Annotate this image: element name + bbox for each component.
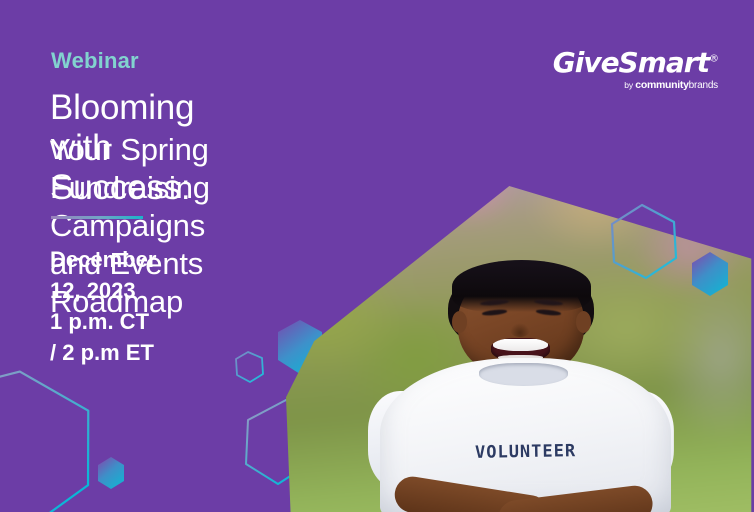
logo-tagline-by: by	[624, 80, 635, 90]
ear-right	[576, 311, 591, 332]
tshirt-volunteer-text: VOLUNTEER	[441, 440, 611, 463]
gradient-divider	[51, 216, 143, 219]
hero-photo-mask: VOLUNTEER	[286, 186, 754, 512]
registered-trademark-icon: ®	[709, 54, 718, 65]
logo-tagline: by communitybrands	[553, 80, 718, 91]
givesmart-logo: GiveSmart® by communitybrands	[553, 49, 718, 91]
teeth-upper	[493, 339, 547, 351]
hexagon-outline-small-mid	[236, 352, 263, 382]
hair-top	[452, 260, 591, 313]
event-datetime: December 12, 2023 1 p.m. CT / 2 p.m ET	[50, 244, 156, 368]
eyebrow-label: Webinar	[51, 48, 139, 74]
logo-tagline-brands: brands	[689, 80, 718, 91]
tshirt-collar	[479, 363, 568, 386]
webinar-promo-banner: VOLUNTEER Webinar Blooming with Success:…	[0, 0, 754, 512]
logo-tagline-community: community	[635, 79, 688, 91]
logo-wordmark: GiveSmart®	[553, 49, 718, 77]
hero-photo: VOLUNTEER	[286, 186, 754, 512]
logo-name: GiveSmart	[553, 46, 709, 79]
volunteer-person: VOLUNTEER	[286, 186, 754, 512]
hexagon-outline-large-left	[0, 365, 100, 512]
hexagon-filled-small-left	[98, 457, 124, 489]
